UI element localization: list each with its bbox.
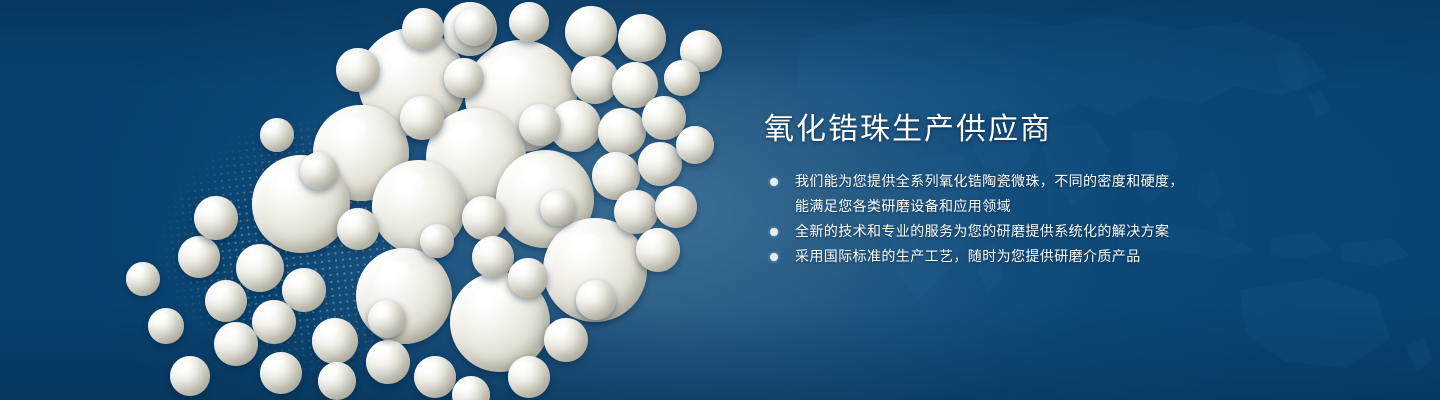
bullet-text-line2: 能满足您各类研磨设备和应用领域 (795, 194, 1234, 219)
banner-bullet-list: 我们能为您提供全系列氧化锆陶瓷微珠，不同的密度和硬度， 能满足您各类研磨设备和应… (764, 169, 1234, 269)
list-item: 全新的技术和专业的服务为您的研磨提供系统化的解决方案 (764, 219, 1234, 244)
bullet-text-line1: 全新的技术和专业的服务为您的研磨提供系统化的解决方案 (795, 223, 1169, 239)
bullet-dot-icon (770, 178, 778, 186)
banner-content: 氧化锆珠生产供应商 我们能为您提供全系列氧化锆陶瓷微珠，不同的密度和硬度， 能满… (764, 0, 1284, 400)
bullet-text-line1: 我们能为您提供全系列氧化锆陶瓷微珠，不同的密度和硬度， (795, 173, 1184, 189)
banner-title: 氧化锆珠生产供应商 (764, 112, 1052, 148)
bullet-text-line1: 采用国际标准的生产工艺，随时为您提供研磨介质产品 (795, 248, 1141, 264)
list-item: 采用国际标准的生产工艺，随时为您提供研磨介质产品 (764, 244, 1234, 269)
list-item: 我们能为您提供全系列氧化锆陶瓷微珠，不同的密度和硬度， 能满足您各类研磨设备和应… (764, 169, 1234, 219)
hero-banner: 氧化锆珠生产供应商 我们能为您提供全系列氧化锆陶瓷微珠，不同的密度和硬度， 能满… (0, 0, 1440, 400)
bullet-dot-icon (770, 253, 778, 261)
bullet-dot-icon (770, 228, 778, 236)
